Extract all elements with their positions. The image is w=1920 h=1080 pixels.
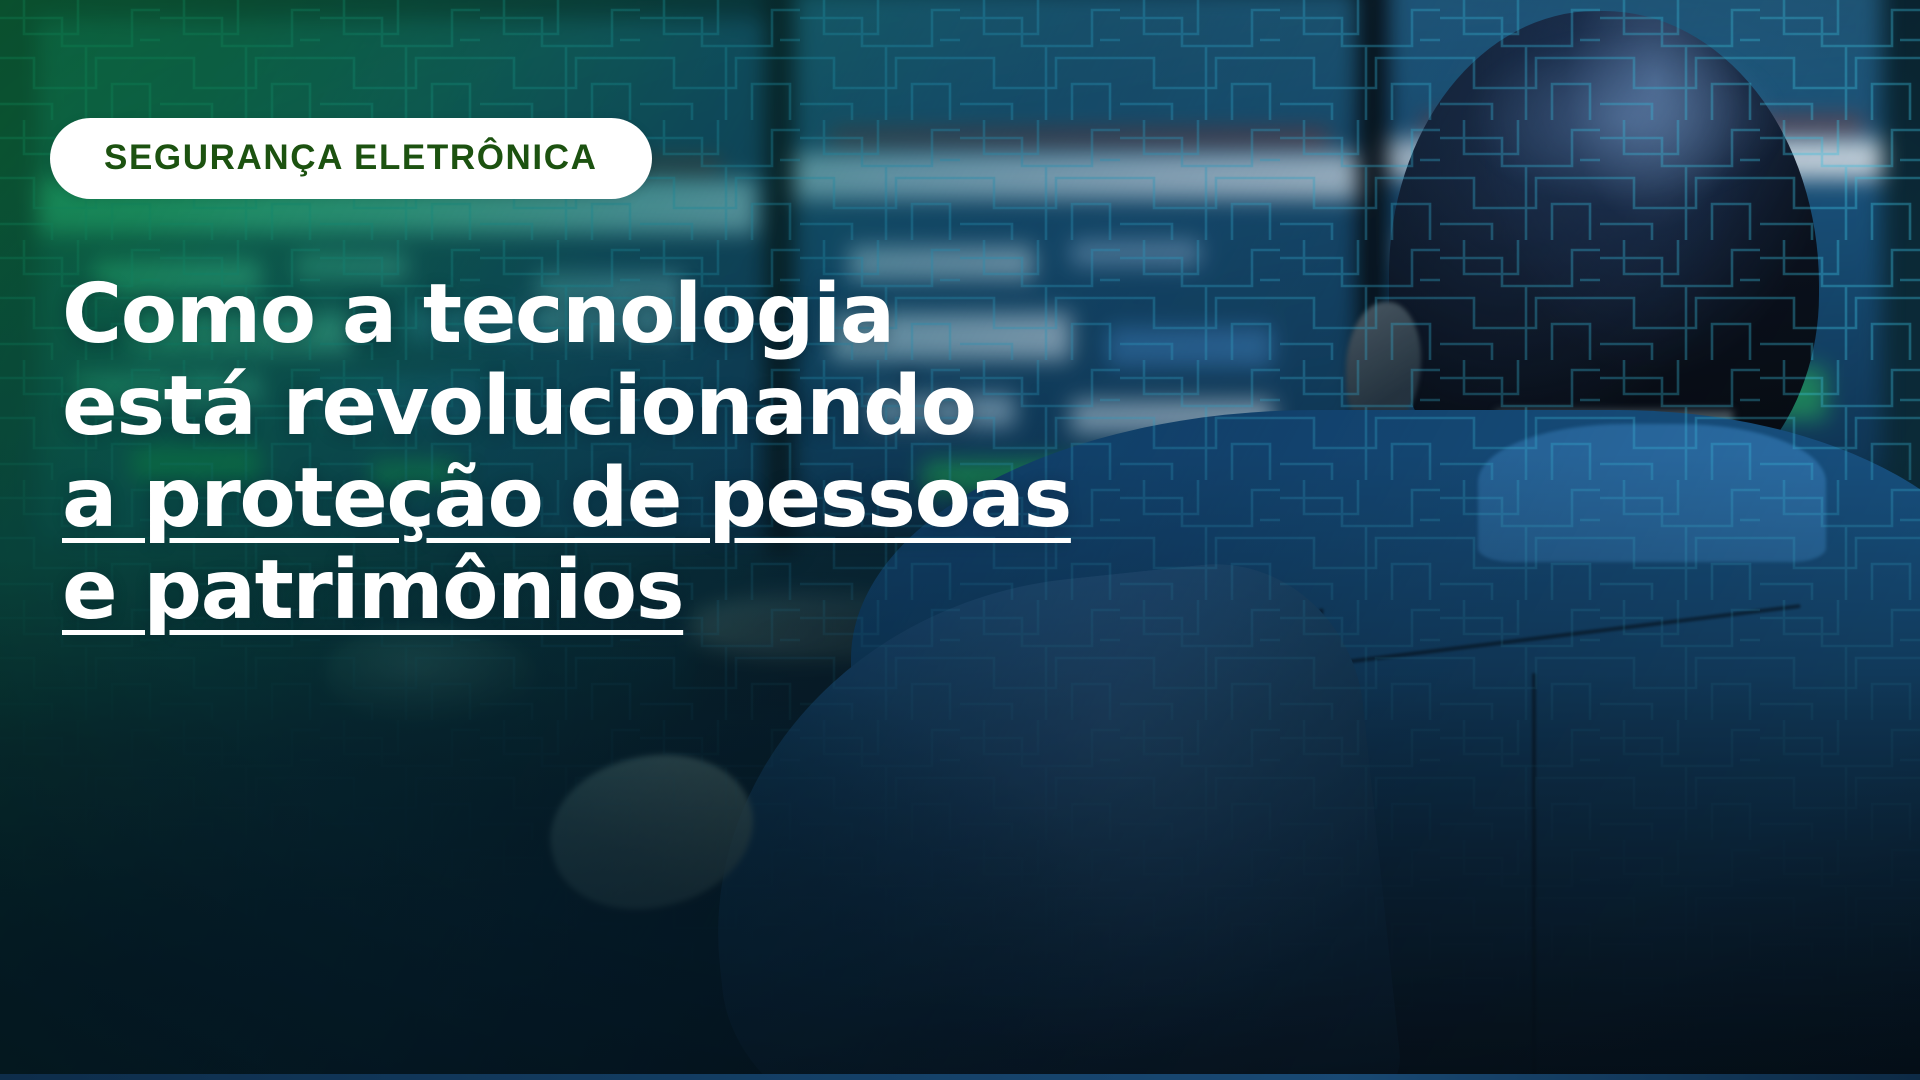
headline-line-3: a proteção de pessoas xyxy=(62,453,1062,545)
category-badge[interactable]: SEGURANÇA ELETRÔNICA xyxy=(50,118,652,199)
banner-content: SEGURANÇA ELETRÔNICA Como a tecnologia e… xyxy=(0,0,1920,1080)
page-title: Como a tecnologia está revolucionando a … xyxy=(62,269,1062,636)
headline-line-2: está revolucionando xyxy=(62,361,1062,453)
hero-banner: SEGURANÇA ELETRÔNICA Como a tecnologia e… xyxy=(0,0,1920,1080)
headline-line-1: Como a tecnologia xyxy=(62,269,1062,361)
category-badge-label: SEGURANÇA ELETRÔNICA xyxy=(104,138,598,177)
headline-line-4: e patrimônios xyxy=(62,545,1062,637)
